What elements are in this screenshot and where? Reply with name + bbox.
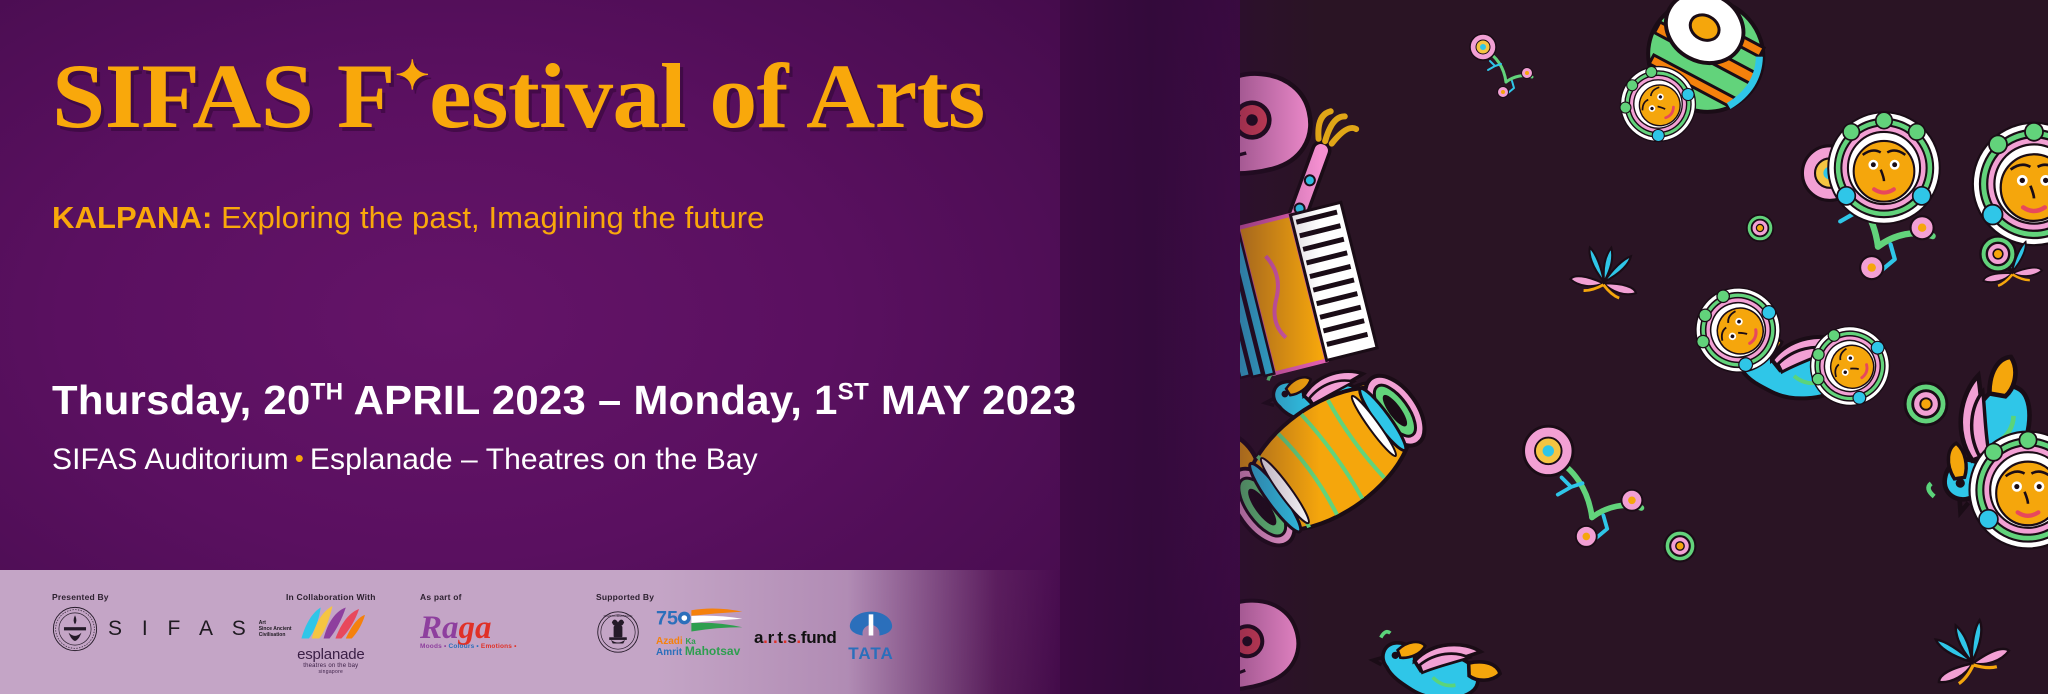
raga-wordmark: Raga xyxy=(420,612,517,645)
india-emblem-icon: HIGH COMMISSION xyxy=(596,610,640,654)
sponsor-group-sifas: Presented By S I F A S Art Since Ancient… xyxy=(52,592,292,652)
date-segment-1: Thursday, 20 xyxy=(52,377,311,423)
date-ordinal-th: TH xyxy=(311,378,344,405)
event-venue: SIFAS Auditorium•Esplanade – Theatres on… xyxy=(52,443,758,477)
sponsor-group-tata: TATA xyxy=(848,610,894,664)
esplanade-wordmark: esplanade xyxy=(286,646,376,663)
sifas-seal-icon xyxy=(52,606,98,652)
sponsor-label-supported-by: Supported By xyxy=(596,592,748,602)
azadi-ka-amrit-mahotsav-logo: 75 Azadi Ka Amrit Mahotsav xyxy=(656,606,748,658)
date-segment-3: MAY 2023 xyxy=(869,377,1076,423)
sponsor-group-supported-by: Supported By HIGH COMMISSION 75 xyxy=(596,592,748,658)
bullet-separator-icon: • xyxy=(289,443,310,473)
sifas-wordmark: S I F A S xyxy=(108,617,253,641)
sponsor-label-as-part-of: As part of xyxy=(420,592,517,602)
date-ordinal-st: ST xyxy=(838,378,869,405)
rosette-2 xyxy=(1980,236,2015,271)
subtitle-theme-label: KALPANA: xyxy=(52,200,212,235)
tata-wordmark: TATA xyxy=(848,644,894,664)
ornate-face-1 xyxy=(1828,112,1940,224)
event-dates: Thursday, 20TH APRIL 2023 – Monday, 1ST … xyxy=(52,377,1076,424)
sponsor-label-collaboration: In Collaboration With xyxy=(286,592,376,602)
svg-text:75: 75 xyxy=(656,607,678,629)
sponsor-group-esplanade: In Collaboration With esplanade theatres… xyxy=(286,592,376,675)
rosette-3 xyxy=(1747,215,1773,241)
date-segment-2: APRIL 2023 – Monday, 1 xyxy=(343,377,837,423)
arts-fund-wordmark: a.r.t.s.fund xyxy=(754,628,836,648)
esplanade-city: singapore xyxy=(286,669,376,675)
sponsor-group-arts-fund: a.r.t.s.fund xyxy=(754,628,836,648)
sparkle-icon: ✦ xyxy=(395,53,429,98)
amrit-mahotsav-text: Amrit Mahotsav xyxy=(656,645,740,659)
raga-tagline: Moods • Colours • Emotions • xyxy=(420,643,517,650)
sponsor-group-raga: As part of Raga Moods • Colours • Emotio… xyxy=(420,592,517,650)
azadi-flag-icon: 75 xyxy=(656,606,748,640)
venue-secondary: Esplanade – Theatres on the Bay xyxy=(310,443,758,476)
page-title-part1: SIFAS F xyxy=(52,45,395,147)
subtitle-text: Exploring the past, Imagining the future xyxy=(212,200,764,235)
svg-text:HIGH COMMISSION: HIGH COMMISSION xyxy=(604,614,633,618)
festival-banner: SIFAS F✦estival of Arts KALPANA: Explori… xyxy=(0,0,2048,694)
esplanade-durian-icon xyxy=(294,606,368,640)
sponsor-bar: Presented By S I F A S Art Since Ancient… xyxy=(0,570,1060,694)
sponsor-label-presented-by: Presented By xyxy=(52,592,292,602)
venue-primary: SIFAS Auditorium xyxy=(52,443,289,476)
rosette-4 xyxy=(1665,531,1696,562)
rosette-1 xyxy=(1905,383,1947,425)
page-title: SIFAS F✦estival of Arts xyxy=(52,50,985,144)
subtitle: KALPANA: Exploring the past, Imagining t… xyxy=(52,200,764,236)
page-title-part2: estival of Arts xyxy=(429,45,985,147)
tata-logo-icon xyxy=(848,610,894,638)
